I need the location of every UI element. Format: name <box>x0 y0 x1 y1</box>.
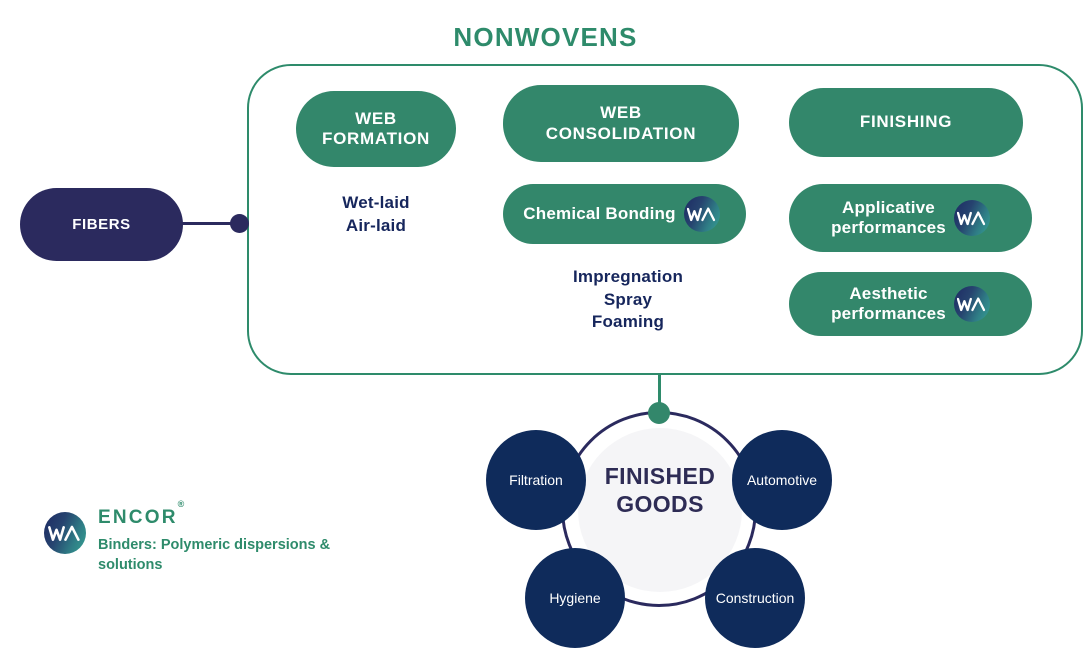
stage-finishing[interactable]: FINISHING <box>789 88 1023 157</box>
finished-goods-label: FINISHED GOODS <box>578 462 742 518</box>
method-air-laid: Air-laid <box>296 215 456 238</box>
item-aesthetic-line1: Aesthetic <box>831 284 946 304</box>
application-hygiene-label: Hygiene <box>549 590 600 606</box>
finished-goods-line2: GOODS <box>578 490 742 518</box>
method-impregnation: Impregnation <box>503 266 753 289</box>
method-wet-laid: Wet-laid <box>296 192 456 215</box>
application-automotive[interactable]: Automotive <box>732 430 832 530</box>
fibers-node[interactable]: FIBERS <box>20 188 183 261</box>
item-chemical-bonding[interactable]: Chemical Bonding <box>503 184 746 244</box>
stage-web-consolidation[interactable]: WEB CONSOLIDATION <box>503 85 739 162</box>
legend-brand-name: ENCOR® <box>98 508 184 527</box>
encor-wave-badge-icon <box>954 286 990 322</box>
legend: ENCOR® Binders: Polymeric dispersions & … <box>44 506 404 575</box>
registered-mark-icon: ® <box>178 499 185 509</box>
application-filtration[interactable]: Filtration <box>486 430 586 530</box>
output-connector-dot <box>648 402 670 424</box>
stage-finishing-line1: FINISHING <box>860 112 952 132</box>
application-filtration-label: Filtration <box>509 472 563 488</box>
stage-web-formation-line2: FORMATION <box>322 129 430 149</box>
stage-web-formation[interactable]: WEB FORMATION <box>296 91 456 167</box>
method-spray: Spray <box>503 289 753 312</box>
application-construction[interactable]: Construction <box>705 548 805 648</box>
item-aesthetic-line2: performances <box>831 304 946 324</box>
stage-web-formation-line1: WEB <box>322 109 430 129</box>
encor-wave-badge-icon <box>684 196 720 232</box>
encor-wave-badge-icon <box>44 512 86 554</box>
stage-web-consolidation-line1: WEB <box>546 103 696 123</box>
web-consolidation-methods: Impregnation Spray Foaming <box>503 266 753 334</box>
item-applicative-line1: Applicative <box>831 198 946 218</box>
fibers-label: FIBERS <box>72 216 131 233</box>
legend-text: ENCOR® Binders: Polymeric dispersions & … <box>98 506 378 575</box>
page-title: NONWOVENS <box>0 22 1091 53</box>
legend-brand-label: ENCOR <box>98 507 178 528</box>
item-aesthetic-performances[interactable]: Aesthetic performances <box>789 272 1032 336</box>
application-automotive-label: Automotive <box>747 472 817 488</box>
item-applicative-performances[interactable]: Applicative performances <box>789 184 1032 252</box>
application-construction-label: Construction <box>716 590 795 606</box>
finished-goods-line1: FINISHED <box>578 462 742 490</box>
application-hygiene[interactable]: Hygiene <box>525 548 625 648</box>
diagram-canvas: NONWOVENS FIBERS WEB FORMATION Wet-laid … <box>0 0 1091 649</box>
legend-description: Binders: Polymeric dispersions & solutio… <box>98 536 378 575</box>
method-foaming: Foaming <box>503 311 753 334</box>
fibers-connector-dot <box>230 214 249 233</box>
encor-wave-badge-icon <box>954 200 990 236</box>
item-chemical-bonding-label: Chemical Bonding <box>523 204 675 224</box>
stage-web-consolidation-line2: CONSOLIDATION <box>546 124 696 144</box>
web-formation-methods: Wet-laid Air-laid <box>296 192 456 237</box>
item-applicative-line2: performances <box>831 218 946 238</box>
